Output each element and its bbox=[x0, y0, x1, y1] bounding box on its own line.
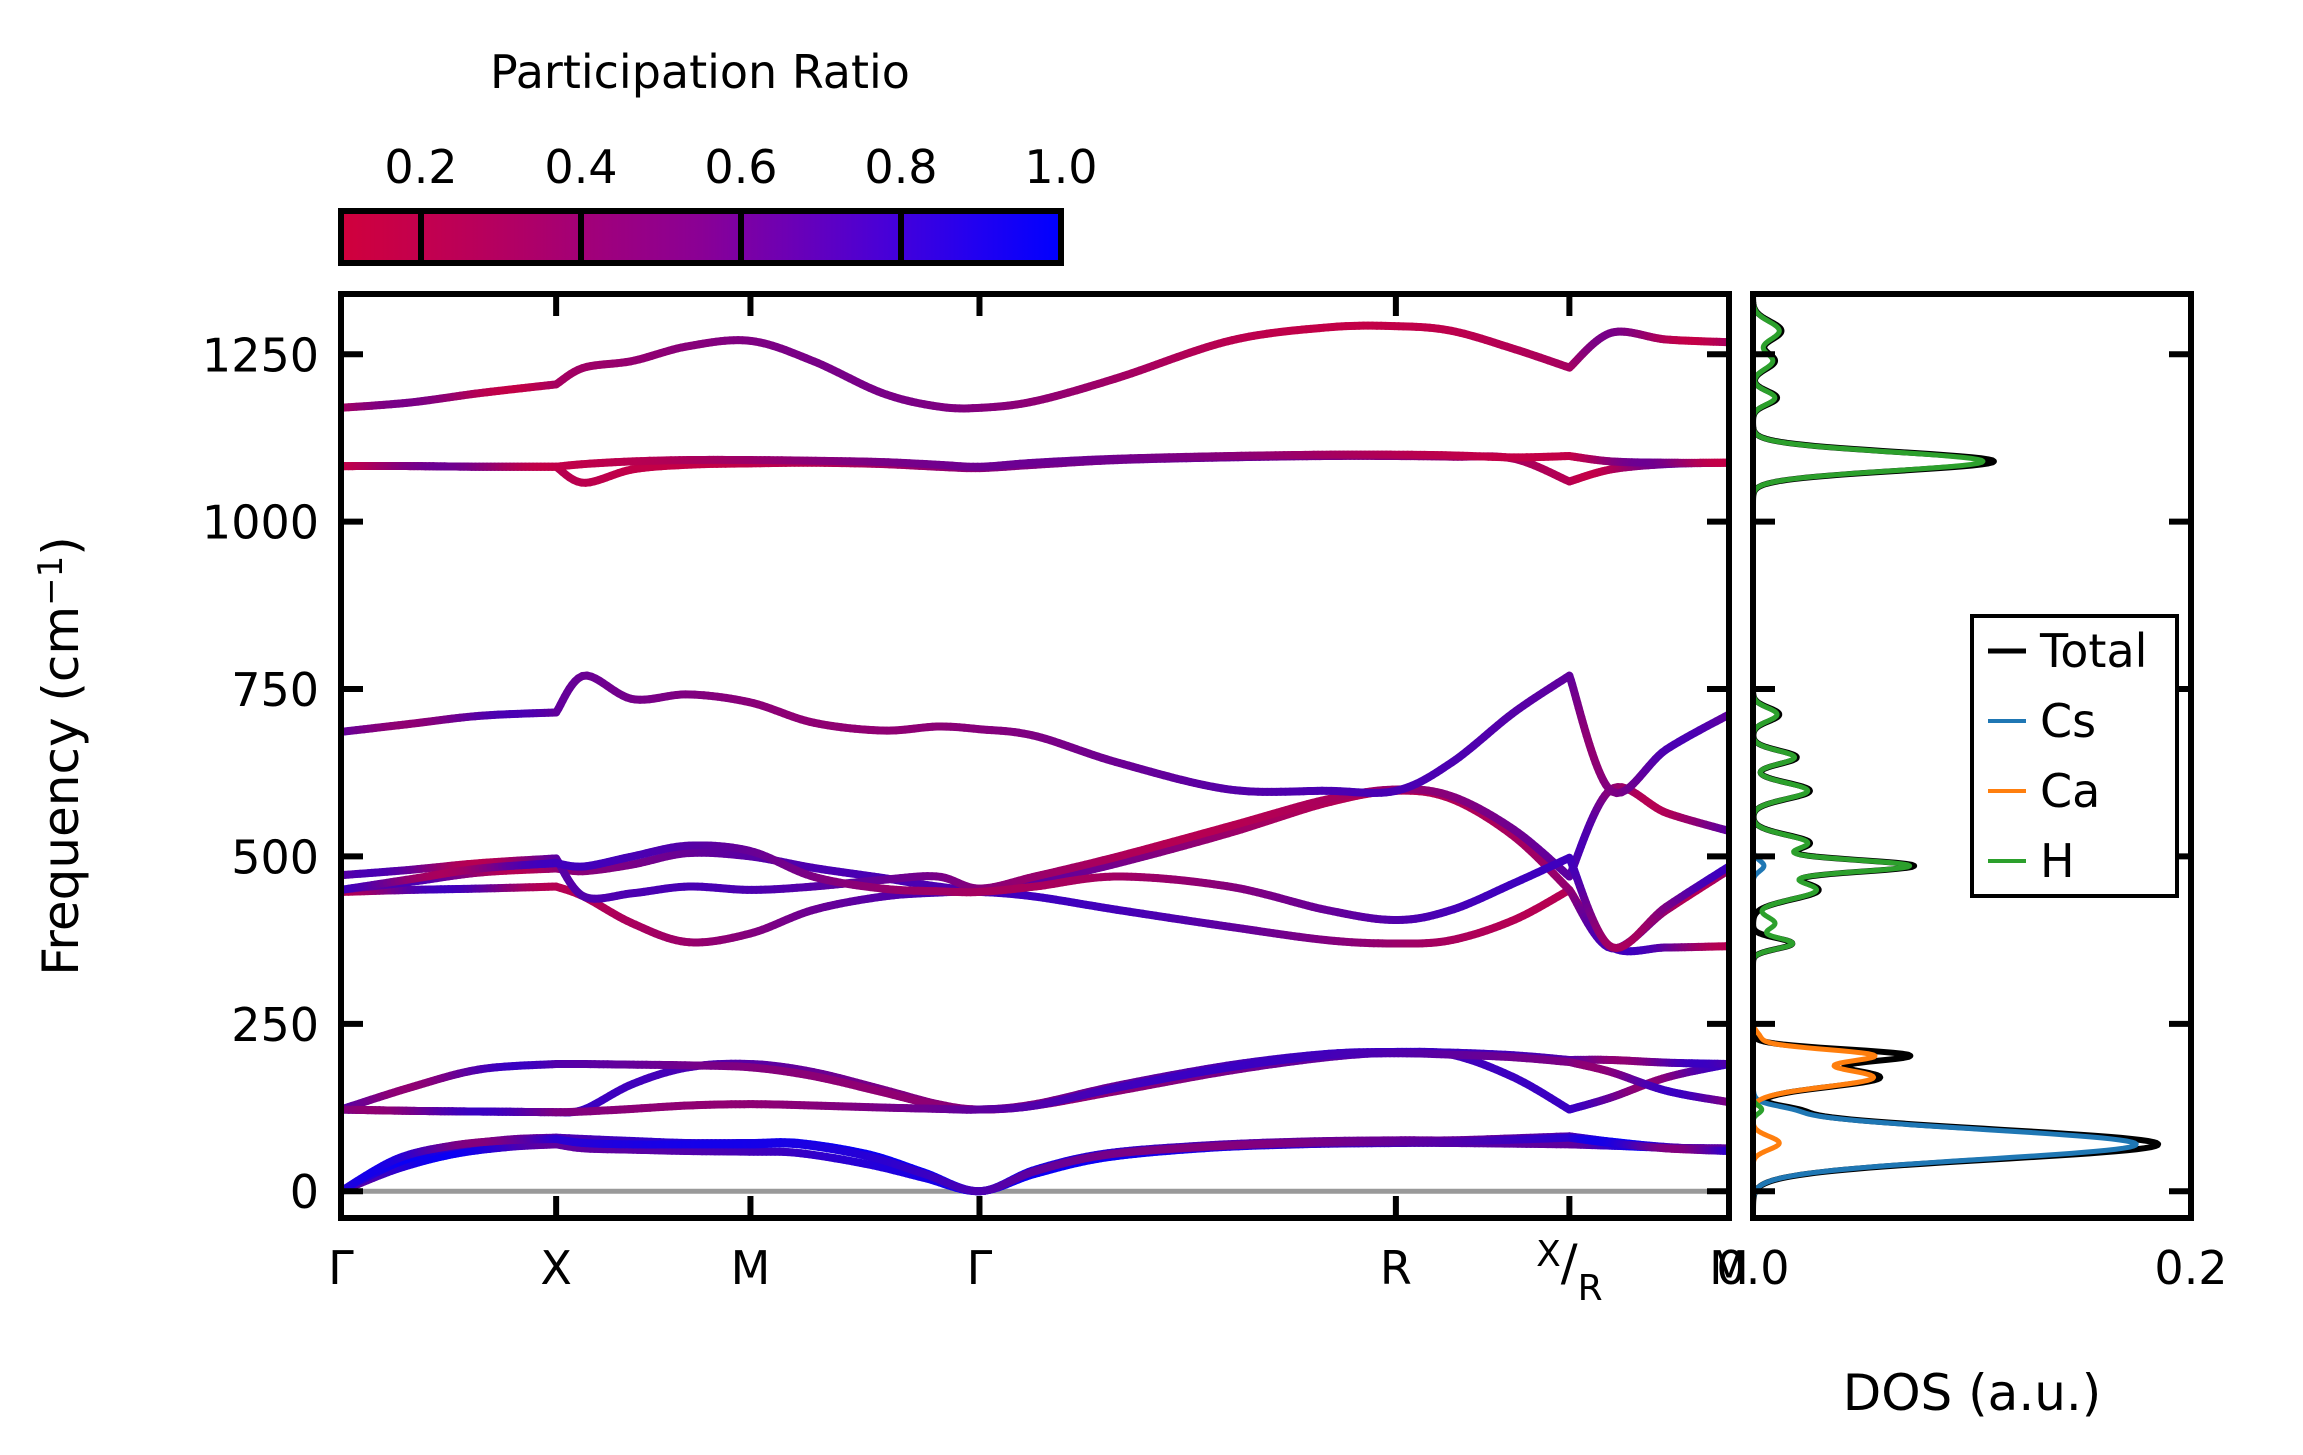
band-y-tick-label: 500 bbox=[231, 830, 319, 884]
colorbar-tick-label: 0.8 bbox=[864, 140, 937, 194]
band-y-tick-label: 250 bbox=[231, 998, 319, 1052]
band-y-tick-label: 1000 bbox=[202, 496, 319, 550]
colorbar-tick-labels: 0.20.40.60.81.0 bbox=[384, 140, 1097, 194]
band-curves bbox=[341, 326, 1729, 1192]
colorbar-tick-label: 0.6 bbox=[704, 140, 777, 194]
colorbar-group: 0.20.40.60.81.0 Participation Ratio bbox=[341, 45, 1098, 263]
band-x-tick-labels: ΓXMΓRX/RM bbox=[328, 1234, 1749, 1309]
colorbar-swatch bbox=[341, 211, 1061, 263]
figure-canvas: 0.20.40.60.81.0 Participation Ratio 0250… bbox=[0, 0, 2303, 1455]
colorbar-tick-label: 0.2 bbox=[384, 140, 457, 194]
colorbar-tick-label: 0.4 bbox=[544, 140, 617, 194]
band-x-tick-label: X bbox=[540, 1241, 572, 1295]
band-y-tick-label: 0 bbox=[290, 1165, 319, 1219]
colorbar-tick-label: 1.0 bbox=[1024, 140, 1097, 194]
band-y-tick-label: 750 bbox=[231, 663, 319, 717]
colorbar-title: Participation Ratio bbox=[490, 45, 910, 99]
band-x-tick-label: Γ bbox=[328, 1241, 354, 1295]
band-y-tick-label: 1250 bbox=[202, 328, 319, 382]
phonon-band-dos-figure: 0.20.40.60.81.0 Participation Ratio 0250… bbox=[0, 0, 2303, 1455]
band-structure-panel: 025050075010001250 ΓXMΓRX/RM Frequency (… bbox=[31, 294, 1749, 1309]
band-y-tick-labels: 025050075010001250 bbox=[202, 328, 319, 1219]
